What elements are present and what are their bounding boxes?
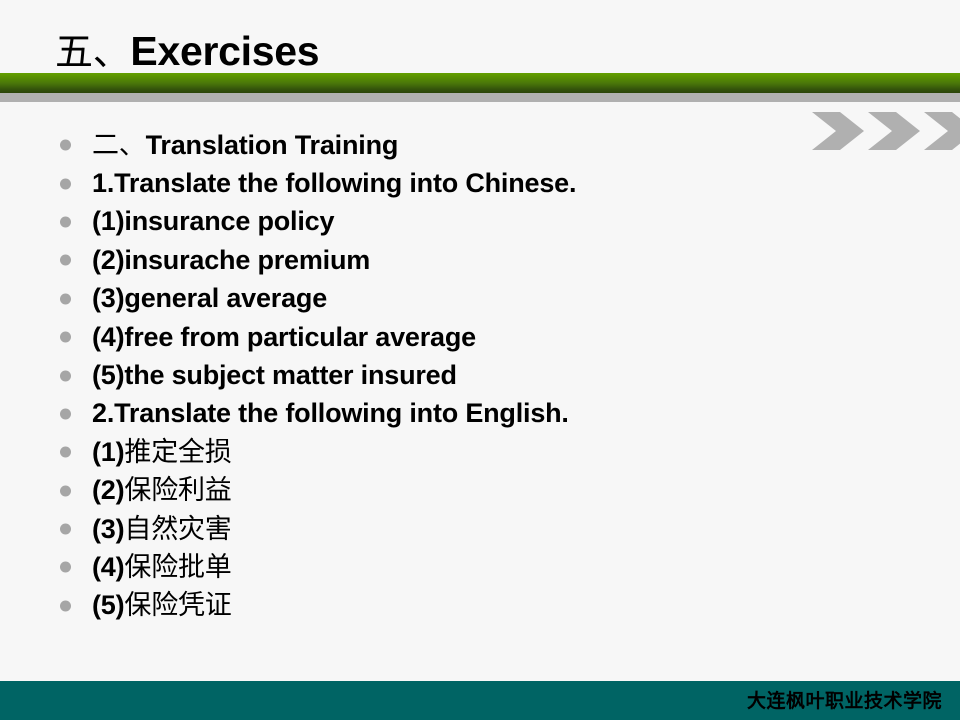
list-item-text: 2.Translate the following into English. bbox=[92, 400, 569, 427]
list-item-text: (2)insurache premium bbox=[92, 247, 370, 274]
list-item: 二、Translation Training bbox=[56, 126, 936, 164]
list-item-body: Translation Training bbox=[146, 130, 399, 160]
page-title: 五、Exercises bbox=[55, 31, 319, 72]
title-area: 五、Exercises bbox=[0, 0, 960, 73]
list-item-text: 二、Translation Training bbox=[92, 132, 398, 159]
bullet-icon bbox=[60, 140, 71, 151]
bullet-icon bbox=[60, 600, 71, 611]
list-item-body: 推定全损 bbox=[124, 437, 231, 468]
list-item-lead: (4) bbox=[92, 552, 124, 582]
list-item-text: (3)general average bbox=[92, 285, 327, 312]
list-item: (2)保险利益 bbox=[56, 472, 936, 510]
page-title-en: Exercises bbox=[130, 28, 319, 74]
list-item: (3)general average bbox=[56, 280, 936, 318]
list-item: (1)insurance policy bbox=[56, 203, 936, 241]
list-item-text: (2)保险利益 bbox=[92, 477, 232, 504]
list-item-text: (5)the subject matter insured bbox=[92, 362, 457, 389]
bullet-icon bbox=[60, 408, 71, 419]
list-item-lead: 二、 bbox=[92, 130, 146, 161]
list-item: (4)free from particular average bbox=[56, 318, 936, 356]
list-item: (3)自然灾害 bbox=[56, 510, 936, 548]
list-item-body: 保险凭证 bbox=[124, 590, 231, 621]
list-item-lead: (5) bbox=[92, 590, 124, 620]
list-item-lead: (3) bbox=[92, 514, 124, 544]
bullet-icon bbox=[60, 216, 71, 227]
bullet-icon bbox=[60, 524, 71, 535]
list-item-lead: (1) bbox=[92, 437, 124, 467]
list-item-body: 自然灾害 bbox=[124, 514, 231, 545]
list-item-text: 1.Translate the following into Chinese. bbox=[92, 170, 576, 197]
list-item-text: (4)保险批单 bbox=[92, 554, 232, 581]
gray-divider-bar bbox=[0, 93, 960, 102]
bullet-icon bbox=[60, 485, 71, 496]
bullet-icon bbox=[60, 447, 71, 458]
list-item: (4)保险批单 bbox=[56, 548, 936, 586]
list-item-lead: (2) bbox=[92, 475, 124, 505]
bullet-icon bbox=[60, 562, 71, 573]
bullet-list: 二、Translation Training 1.Translate the f… bbox=[56, 126, 936, 625]
list-item: 2.Translate the following into English. bbox=[56, 395, 936, 433]
list-item: (2)insurache premium bbox=[56, 241, 936, 279]
bullet-icon bbox=[60, 178, 71, 189]
list-item: (5)the subject matter insured bbox=[56, 356, 936, 394]
list-item-body: 保险利益 bbox=[124, 475, 231, 506]
list-item-text: (1)推定全损 bbox=[92, 439, 232, 466]
list-item-body: 保险批单 bbox=[124, 552, 231, 583]
list-item-text: (5)保险凭证 bbox=[92, 592, 232, 619]
bullet-icon bbox=[60, 255, 71, 266]
footer-institution-name: 大连枫叶职业技术学院 bbox=[747, 686, 942, 713]
list-item-text: (3)自然灾害 bbox=[92, 516, 232, 543]
green-divider-bar bbox=[0, 73, 960, 93]
list-item: 1.Translate the following into Chinese. bbox=[56, 164, 936, 202]
slide: 五、Exercises 二、Translation Training 1.Tra… bbox=[0, 0, 960, 720]
list-item-text: (1)insurance policy bbox=[92, 208, 334, 235]
bullet-icon bbox=[60, 332, 71, 343]
bullet-icon bbox=[60, 293, 71, 304]
list-item-text: (4)free from particular average bbox=[92, 324, 476, 351]
list-item: (1)推定全损 bbox=[56, 433, 936, 471]
bullet-icon bbox=[60, 370, 71, 381]
list-item: (5)保险凭证 bbox=[56, 587, 936, 625]
page-title-cn: 五、 bbox=[55, 30, 130, 74]
